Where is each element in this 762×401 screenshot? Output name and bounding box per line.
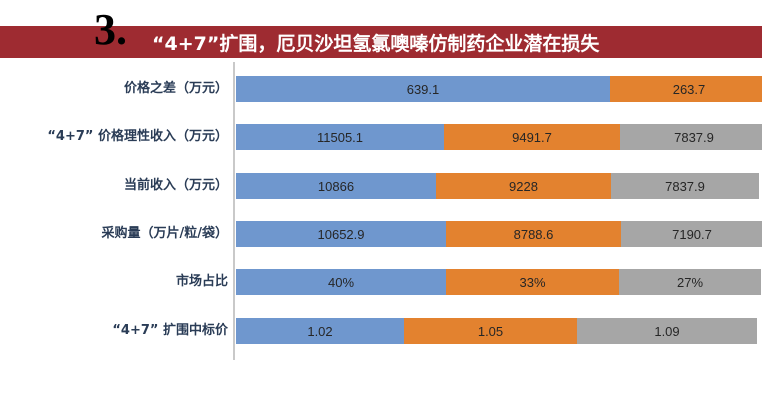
bar-row: 1086692287837.9 [236, 173, 759, 199]
bar-segment: 1.09 [577, 318, 757, 344]
bar-segment: 1.02 [236, 318, 404, 344]
bar-segment: 33% [446, 269, 619, 295]
bar-segment: 10866 [236, 173, 436, 199]
bar-value-label: 1.02 [307, 324, 332, 339]
bar-value-label: 1.09 [654, 324, 679, 339]
bar-row: 10652.98788.67190.7 [236, 221, 762, 247]
bar-segment: 263.7 [610, 76, 762, 102]
page-title: “4+7”扩围，厄贝沙坦氢氯噢嗪仿制药企业潜在损失 [152, 26, 752, 58]
bar-value-label: 639.1 [407, 82, 440, 97]
category-label: 采购量（万片/粒/袋） [0, 227, 228, 241]
bar-value-label: 7837.9 [674, 130, 714, 145]
category-label: 当前收入（万元） [0, 179, 228, 193]
bar-segment: 10652.9 [236, 221, 446, 247]
section-number: 3. [94, 8, 127, 52]
bar-row: 40%33%27% [236, 269, 761, 295]
category-axis-labels: 价格之差（万元）“4+7” 价格理性收入（万元）当前收入（万元）采购量（万片/粒… [0, 62, 228, 360]
category-label: 市场占比 [0, 275, 228, 289]
chart-page: “4+7”扩围，厄贝沙坦氢氯噢嗪仿制药企业潜在损失 3. 价格之差（万元）“4+… [0, 0, 762, 401]
bar-segment: 9228 [436, 173, 611, 199]
bar-value-label: 9491.7 [512, 130, 552, 145]
bar-value-label: 7837.9 [665, 179, 705, 194]
stacked-bar-chart: 价格之差（万元）“4+7” 价格理性收入（万元）当前收入（万元）采购量（万片/粒… [0, 58, 762, 401]
bar-row: 11505.19491.77837.9 [236, 124, 762, 150]
bar-value-label: 9228 [509, 179, 538, 194]
bar-value-label: 11505.1 [317, 130, 363, 145]
bar-segment: 7190.7 [621, 221, 762, 247]
category-axis-line [233, 62, 235, 360]
category-label: “4+7” 扩围中标价 [0, 324, 228, 338]
bar-segment: 639.1 [236, 76, 610, 102]
bar-segment: 11505.1 [236, 124, 444, 150]
category-label: 价格之差（万元） [0, 82, 228, 96]
bar-segment: 1.05 [404, 318, 577, 344]
bar-value-label: 1.05 [478, 324, 503, 339]
bar-row: 639.1263.7 [236, 76, 762, 102]
bar-value-label: 10652.9 [318, 227, 365, 242]
bar-value-label: 7190.7 [672, 227, 712, 242]
bar-segment: 40% [236, 269, 446, 295]
bar-value-label: 10866 [318, 179, 354, 194]
category-label: “4+7” 价格理性收入（万元） [0, 130, 228, 144]
bar-row: 1.021.051.09 [236, 318, 757, 344]
bar-value-label: 27% [677, 275, 703, 290]
bar-value-label: 8788.6 [514, 227, 554, 242]
bar-segment: 8788.6 [446, 221, 621, 247]
bar-value-label: 263.7 [673, 82, 706, 97]
bar-segment: 27% [619, 269, 761, 295]
bar-segment: 9491.7 [444, 124, 620, 150]
bar-segment: 7837.9 [611, 173, 759, 199]
plot-area: 639.1263.711505.19491.77837.910866922878… [236, 62, 762, 360]
bar-value-label: 33% [519, 275, 545, 290]
bar-segment: 7837.9 [620, 124, 762, 150]
bar-value-label: 40% [328, 275, 354, 290]
